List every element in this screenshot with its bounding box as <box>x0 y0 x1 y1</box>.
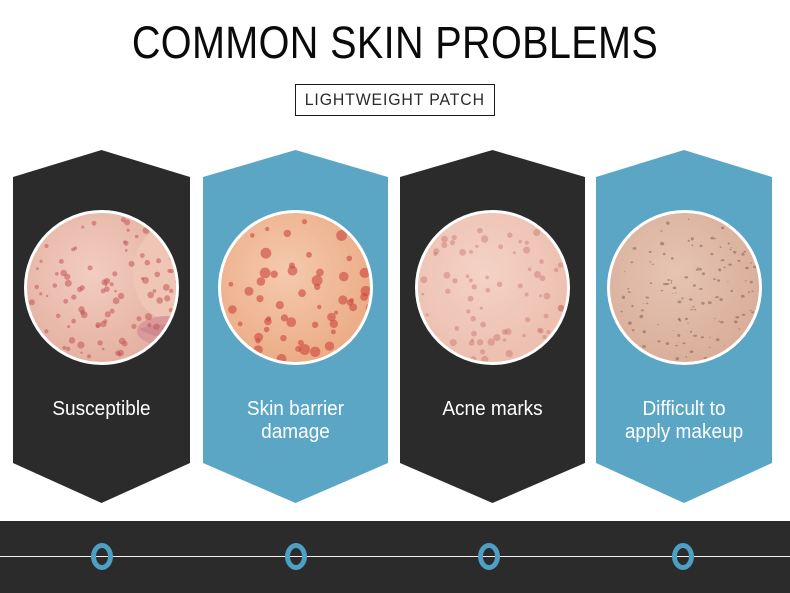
label-line-1: Skin barrier <box>247 398 344 420</box>
label-line-2: apply makeup <box>606 421 762 444</box>
acne-scars-cheek-photo <box>415 210 570 365</box>
label-line-2: damage <box>213 421 377 444</box>
problem-card-label-1: Susceptible <box>23 398 180 421</box>
label-line-1: Susceptible <box>52 398 150 420</box>
problem-card-1[interactable]: Susceptible <box>13 150 190 503</box>
problem-card-4[interactable]: Difficult toapply makeup <box>596 150 772 503</box>
photo-image <box>418 213 567 362</box>
timeline-dot-1[interactable] <box>91 543 113 570</box>
problem-card-label-2: Skin barrierdamage <box>213 398 377 444</box>
problem-card-label-4: Difficult toapply makeup <box>606 398 762 444</box>
problem-card-3[interactable]: Acne marks <box>400 150 585 503</box>
photo-image <box>610 213 759 362</box>
problem-card-2[interactable]: Skin barrierdamage <box>203 150 388 503</box>
cheek-with-acne-photo <box>24 210 179 365</box>
problem-card-list: SusceptibleSkin barrierdamageAcne marksD… <box>0 0 790 520</box>
bottom-bar <box>0 521 790 593</box>
timeline-dot-4[interactable] <box>672 543 694 570</box>
label-line-1: Difficult to <box>642 398 725 420</box>
photo-image <box>27 213 176 362</box>
label-line-1: Acne marks <box>442 398 542 420</box>
timeline-dot-2[interactable] <box>285 543 307 570</box>
timeline-dot-3[interactable] <box>478 543 500 570</box>
problem-card-label-3: Acne marks <box>410 398 574 421</box>
enlarged-pores-skin-photo <box>607 210 762 365</box>
photo-image <box>221 213 370 362</box>
inflamed-skin-closeup-photo <box>218 210 373 365</box>
